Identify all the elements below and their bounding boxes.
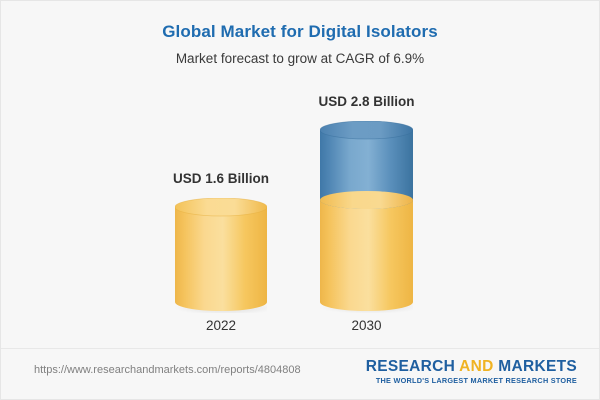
- cylinder-2022-svg: [175, 198, 267, 313]
- footer-divider: [1, 348, 600, 349]
- logo-tagline: THE WORLD'S LARGEST MARKET RESEARCH STOR…: [366, 376, 577, 386]
- logo-word-markets: MARKETS: [494, 358, 577, 375]
- chart-card: Global Market for Digital Isolators Mark…: [0, 0, 600, 400]
- bar-value-label-2030: USD 2.8 Billion: [267, 94, 467, 109]
- research-and-markets-logo[interactable]: RESEARCH AND MARKETS THE WORLD'S LARGEST…: [366, 358, 577, 386]
- cylinder-2022[interactable]: [175, 198, 267, 311]
- bar-group-2022[interactable]: USD 1.6 Billion: [175, 1, 267, 349]
- cylinder-2030-svg: [320, 121, 413, 313]
- cylinder-2030[interactable]: [320, 121, 413, 311]
- x-axis-label-2030: 2030: [267, 318, 467, 333]
- bar-group-2030[interactable]: USD 2.8 Billion: [320, 1, 413, 349]
- logo-word-research: RESEARCH: [366, 358, 459, 375]
- logo-wordmark: RESEARCH AND MARKETS: [366, 358, 577, 375]
- plot-area: USD 1.6 Billion: [1, 1, 600, 349]
- logo-word-and: AND: [459, 358, 493, 375]
- report-url[interactable]: https://www.researchandmarkets.com/repor…: [34, 364, 301, 376]
- bar-value-label-2022: USD 1.6 Billion: [121, 171, 321, 186]
